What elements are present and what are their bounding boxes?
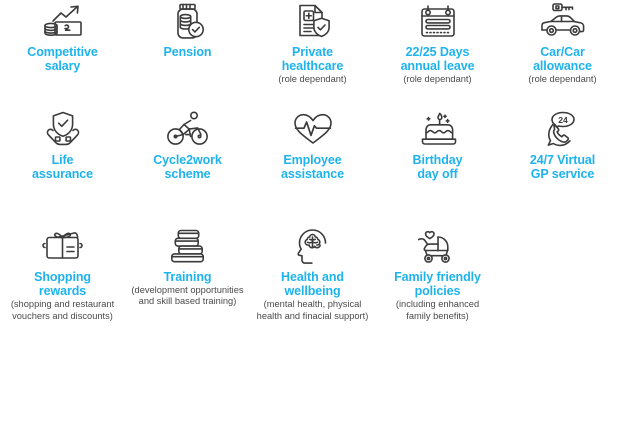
benefit-title: 24/7 Virtual GP service (530, 153, 595, 181)
benefit-item-cycle2work[interactable]: Cycle2work scheme (125, 108, 250, 225)
svg-text:24: 24 (558, 115, 568, 125)
benefit-item-pension[interactable]: Pension (125, 0, 250, 108)
benefit-title: Private healthcare (282, 45, 344, 73)
benefit-subtitle: (including enhanced family benefits) (396, 299, 479, 321)
money-growth-icon (39, 0, 87, 42)
benefit-row: Competitive salary Pension (0, 0, 625, 108)
benefit-title: Life assurance (32, 153, 93, 181)
benefit-title: Training (164, 270, 212, 284)
benefit-item-birthday-day-off[interactable]: Birthday day off (375, 108, 500, 225)
benefit-item-private-healthcare[interactable]: Private healthcare (role dependant) (250, 0, 375, 108)
phone-24-icon: 24 (540, 108, 586, 150)
benefit-subtitle: (role dependant) (403, 74, 471, 85)
benefit-subtitle: (development opportunities and skill bas… (131, 285, 243, 307)
benefit-title: 22/25 Days annual leave (401, 45, 475, 73)
benefit-item-empty (500, 225, 625, 350)
benefit-title: Health and wellbeing (281, 270, 344, 298)
benefit-item-shopping-rewards[interactable]: Shopping rewards (shopping and restauran… (0, 225, 125, 350)
benefit-item-life-assurance[interactable]: Life assurance (0, 108, 125, 225)
pension-jar-icon (166, 0, 210, 42)
benefits-grid: Competitive salary Pension (0, 0, 625, 438)
heart-pulse-icon (289, 108, 337, 150)
car-key-icon (537, 0, 589, 42)
bicycle-icon (163, 108, 213, 150)
benefit-row: Life assurance Cycle2wo (0, 108, 625, 225)
shield-hands-icon (40, 108, 86, 150)
benefit-subtitle: (role dependant) (528, 74, 596, 85)
gift-card-icon (39, 225, 87, 267)
benefit-item-health-wellbeing[interactable]: Health and wellbeing (mental health, phy… (250, 225, 375, 350)
benefit-item-employee-assistance[interactable]: Employee assistance (250, 108, 375, 225)
pram-heart-icon (413, 225, 463, 267)
benefit-item-competitive-salary[interactable]: Competitive salary (0, 0, 125, 108)
benefit-item-family-friendly[interactable]: Family friendly policies (including enha… (375, 225, 500, 350)
benefit-title: Birthday day off (413, 153, 463, 181)
benefit-subtitle: (shopping and restaurant vouchers and di… (11, 299, 114, 321)
benefit-title: Shopping rewards (34, 270, 91, 298)
benefit-title: Cycle2work scheme (153, 153, 221, 181)
bottom-spacer (0, 350, 625, 438)
benefit-title: Employee assistance (281, 153, 344, 181)
benefit-title: Pension (164, 45, 212, 59)
benefit-subtitle: (mental health, physical health and fina… (257, 299, 369, 321)
benefit-item-training[interactable]: Training (development opportunities and … (125, 225, 250, 350)
benefit-item-car-allowance[interactable]: Car/Car allowance (role dependant) (500, 0, 625, 108)
books-stack-icon (165, 225, 211, 267)
benefit-item-annual-leave[interactable]: 22/25 Days annual leave (role dependant) (375, 0, 500, 108)
birthday-cake-icon (415, 108, 461, 150)
benefit-title: Competitive salary (27, 45, 97, 73)
calendar-icon (416, 0, 460, 42)
benefit-title: Car/Car allowance (533, 45, 592, 73)
benefit-title: Family friendly policies (394, 270, 481, 298)
benefit-subtitle: (role dependant) (278, 74, 346, 85)
head-brain-icon (291, 225, 335, 267)
benefit-row: Shopping rewards (shopping and restauran… (0, 225, 625, 350)
benefit-item-virtual-gp[interactable]: 24 24/7 Virtual GP service (500, 108, 625, 225)
medical-document-shield-icon (291, 0, 335, 42)
